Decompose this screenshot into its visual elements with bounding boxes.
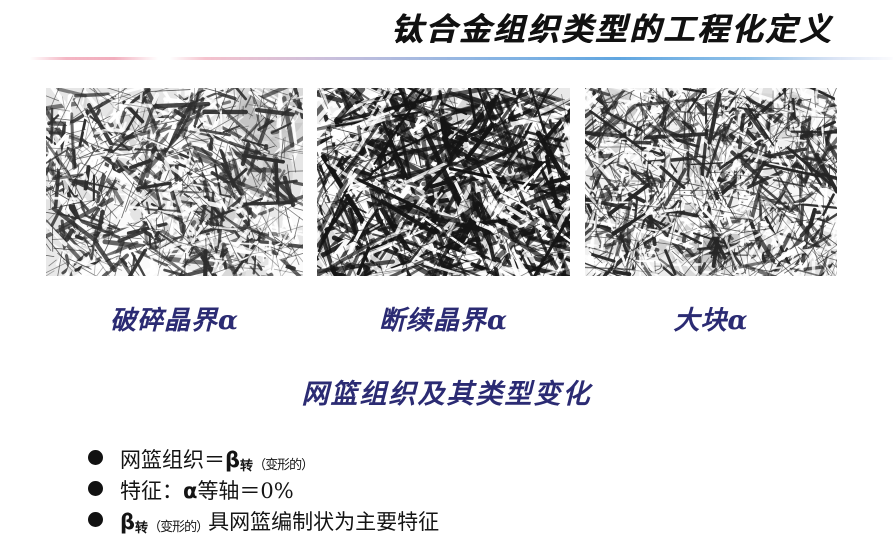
- bullet-dot-icon: [88, 481, 103, 496]
- bullet-dot-icon: [88, 450, 103, 465]
- bullet-fragment: 转: [135, 521, 148, 536]
- bullet-fragment: （变形的）: [253, 458, 313, 473]
- bullet-fragment: α: [183, 479, 197, 503]
- caption-row: 破碎晶界α 断续晶界α 大块α: [0, 300, 893, 342]
- bullet-text-2: 特征：α等轴＝0%: [120, 475, 294, 505]
- bullet-item-basketweave-definition: 网篮组织＝β转（变形的）: [88, 444, 848, 475]
- bullet-fragment: 转: [240, 459, 253, 474]
- micrograph-caption-1: 破碎晶界α: [46, 300, 303, 337]
- divider-segment-main: [170, 57, 893, 60]
- micrograph-caption-2: 断续晶界α: [317, 300, 570, 337]
- bullet-fragment: 等轴＝0%: [197, 479, 293, 503]
- bullet-list: 网篮组织＝β转（变形的） 特征：α等轴＝0% β转（变形的）具网篮编制状为主要特…: [88, 444, 848, 537]
- micrograph-image-discontinuous-grain-boundary-alpha: [317, 88, 570, 276]
- bullet-fragment: β: [120, 510, 135, 534]
- micrograph-row: [0, 88, 893, 278]
- micrograph-image-blocky-alpha: [585, 88, 837, 276]
- bullet-item-basketweave-main-feature: β转（变形的）具网篮编制状为主要特征: [88, 506, 848, 537]
- bullet-fragment: β: [225, 448, 240, 472]
- bullet-text-3: β转（变形的）具网篮编制状为主要特征: [120, 506, 439, 536]
- header-divider: [0, 56, 893, 62]
- bullet-dot-icon: [88, 512, 103, 527]
- page-title: 钛合金组织类型的工程化定义: [340, 2, 885, 50]
- divider-segment-left: [30, 57, 158, 60]
- micrograph-canvas-1: [46, 88, 303, 276]
- bullet-fragment: 特征：: [120, 479, 183, 503]
- bullet-text-1: 网篮组织＝β转（变形的）: [120, 444, 313, 474]
- bullet-fragment: （变形的）: [148, 520, 208, 535]
- bullet-item-feature-equiaxed-alpha: 特征：α等轴＝0%: [88, 475, 848, 506]
- micrograph-canvas-3: [585, 88, 837, 276]
- bullet-fragment: 具网篮编制状为主要特征: [208, 510, 439, 534]
- micrograph-caption-3: 大块α: [585, 300, 837, 337]
- section-subtitle: 网篮组织及其类型变化: [0, 372, 893, 411]
- bullet-fragment: 网篮组织＝: [120, 448, 225, 472]
- micrograph-image-broken-grain-boundary-alpha: [46, 88, 303, 276]
- micrograph-canvas-2: [317, 88, 570, 276]
